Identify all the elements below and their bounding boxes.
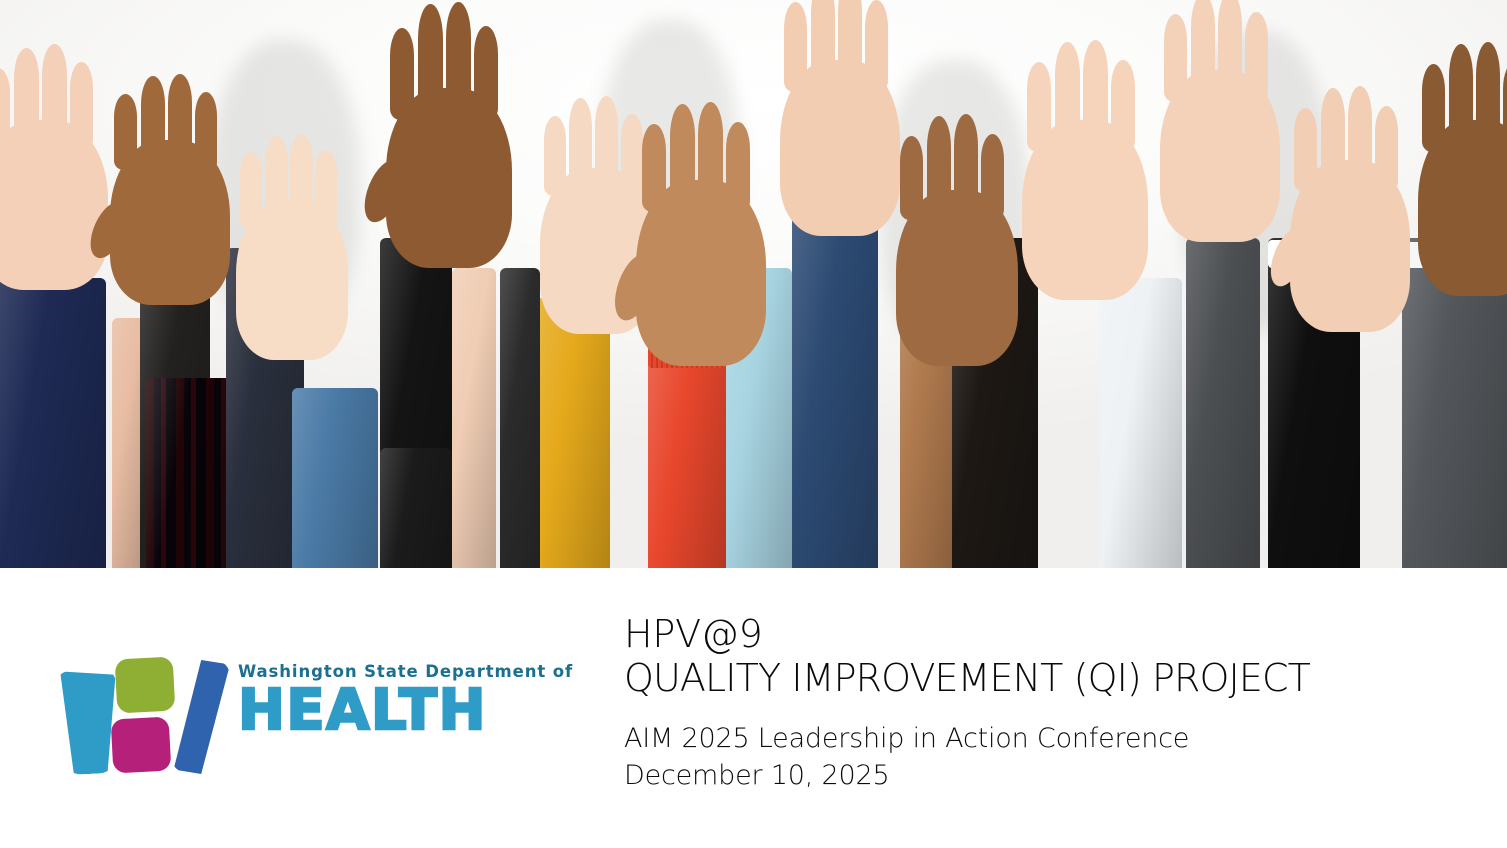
raised-hand	[110, 140, 230, 305]
raised-hand	[636, 180, 766, 366]
title-block: HPV@9 QUALITY IMPROVEMENT (QI) PROJECT A…	[624, 612, 1464, 794]
slide-title-line2: QUALITY IMPROVEMENT (QI) PROJECT	[624, 656, 1464, 700]
sleeve-white	[1100, 278, 1182, 568]
raised-hand	[1290, 160, 1410, 332]
hero-image-band	[0, 0, 1507, 568]
lower-content-band: Washington State Department of HEALTH HP…	[0, 568, 1507, 848]
logo-blue-bar-icon	[170, 660, 230, 774]
raised-hand	[236, 200, 348, 360]
slide-subtitle: AIM 2025 Leadership in Action Conference…	[624, 721, 1464, 794]
slide-title: HPV@9 QUALITY IMPROVEMENT (QI) PROJECT	[624, 612, 1464, 701]
wa-doh-logo: Washington State Department of HEALTH	[52, 656, 512, 774]
sleeve-denim-1b	[292, 388, 378, 568]
logo-green-square-icon	[115, 657, 176, 714]
sleeve-black-1-cuff	[380, 448, 452, 568]
sleeve-mustard	[536, 298, 610, 568]
logo-cyan-bar-icon	[55, 669, 120, 776]
slide-subtitle-line1: AIM 2025 Leadership in Action Conference	[624, 721, 1464, 758]
raised-hand	[1418, 120, 1507, 296]
logo-magenta-square-icon	[111, 717, 172, 774]
raised-hand	[1160, 70, 1280, 242]
logo-wordmark: Washington State Department of HEALTH	[238, 664, 514, 736]
sleeve-grey-suit	[1186, 238, 1260, 568]
forearm-light-2	[452, 268, 496, 568]
raised-hand	[386, 88, 512, 268]
raised-hand	[1022, 120, 1148, 300]
sleeve-navy	[0, 278, 106, 568]
logo-health-word: HEALTH	[238, 685, 514, 737]
doh-logo-mark-icon	[52, 656, 230, 774]
slide-subtitle-line2: December 10, 2025	[624, 758, 1464, 795]
title-slide: Washington State Department of HEALTH HP…	[0, 0, 1507, 848]
sleeve-dark-2	[500, 268, 540, 568]
raised-hands-photo	[0, 0, 1507, 568]
sleeve-red	[648, 358, 726, 568]
sleeve-plaid	[146, 378, 232, 568]
sleeve-denim-2	[792, 188, 878, 568]
slide-title-line1: HPV@9	[624, 612, 1464, 656]
raised-hand	[896, 190, 1018, 366]
raised-hand	[0, 120, 108, 290]
raised-hand	[780, 60, 900, 236]
